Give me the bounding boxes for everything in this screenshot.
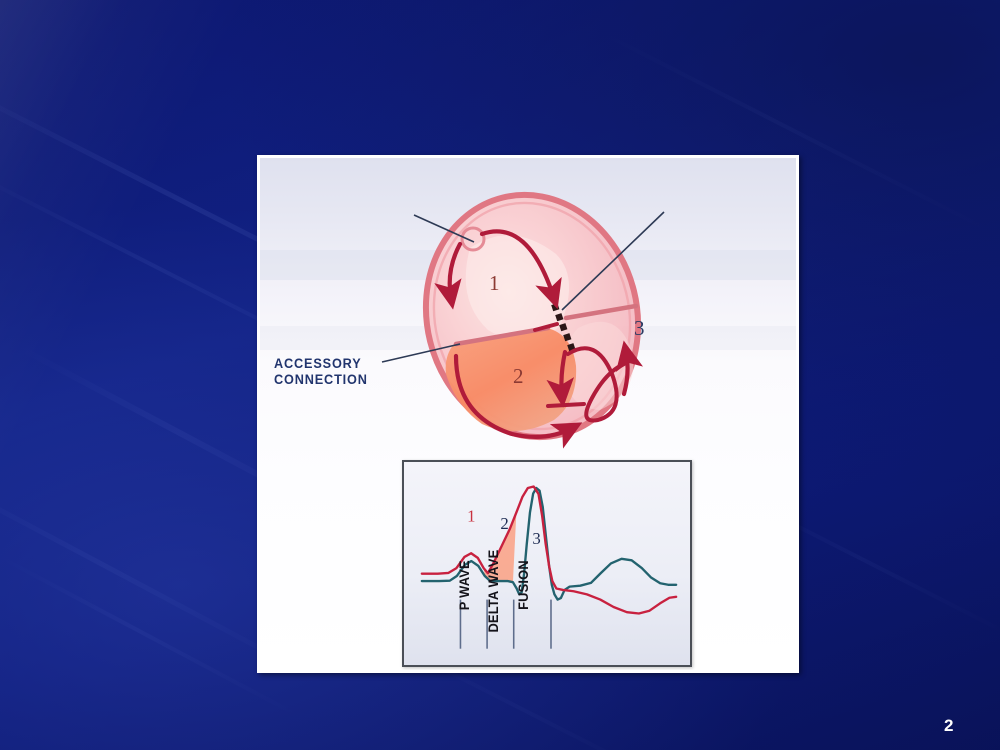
bundle-branch-bar (548, 404, 584, 406)
heart-step-label-2: 2 (513, 364, 524, 388)
heart-diagram: 1 2 3 (260, 158, 796, 488)
ecg-annotation-2: 2 (500, 514, 508, 533)
ecg-chart: 123 (404, 462, 690, 665)
accessory-label-line1: ACCESSORY (274, 356, 368, 372)
ecg-region-label-p-wave: P WAVE (456, 560, 472, 610)
ecg-chart-panel: 123 P WAVE DELTA WAVE FUSION (402, 460, 692, 667)
page-number: 2 (944, 716, 954, 736)
heart-step-label-3: 3 (634, 316, 645, 340)
ecg-region-label-delta-wave: DELTA WAVE (485, 550, 501, 633)
accessory-label-line2: CONNECTION (274, 372, 368, 388)
figure-image: 1 2 3 ACCESSORY CONNECTION 123 P WAVE (260, 158, 796, 670)
ecg-annotation-1: 1 (467, 507, 475, 526)
accessory-connection-label: ACCESSORY CONNECTION (274, 356, 368, 387)
slide-content-panel: 1 2 3 ACCESSORY CONNECTION 123 P WAVE (257, 155, 799, 673)
ecg-annotation-3: 3 (532, 529, 540, 548)
ecg-region-label-fusion: FUSION (515, 560, 531, 610)
heart-step-label-1: 1 (489, 271, 500, 295)
background-streak (0, 555, 301, 718)
ecg-divider-lines (460, 600, 551, 649)
